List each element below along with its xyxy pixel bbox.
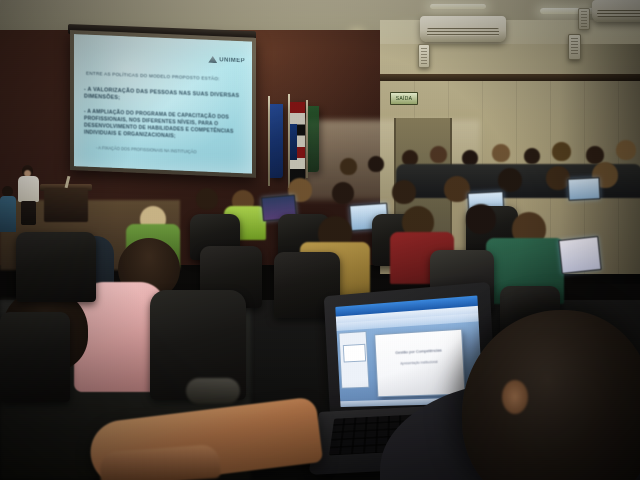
- laptop-slide-title: Gestão por Competências: [384, 347, 454, 356]
- flag-blue: [268, 104, 282, 182]
- audience-head: [552, 142, 571, 161]
- audience-head: [332, 182, 354, 204]
- audience-head: [368, 156, 384, 172]
- slide-logo-wordmark: UNIMEP: [219, 57, 245, 64]
- mountain-triangle-logo-icon: [208, 56, 217, 63]
- audience-head: [492, 144, 510, 162]
- attendee-laptop-document: [558, 236, 601, 274]
- slide-logo: UNIMEP: [208, 56, 245, 65]
- audience-head: [466, 204, 496, 234]
- audience-head: [392, 180, 416, 204]
- attendee-standing-left: [0, 186, 16, 232]
- auditorium-seat: [0, 312, 70, 402]
- projection-screen-surface: UNIMEP ENTRE AS POLÍTICAS DO MODELO PROP…: [74, 34, 252, 173]
- foreground-person-ear: [502, 380, 528, 414]
- exit-sign-label: SAÍDA: [396, 96, 413, 102]
- wall-speaker: [568, 34, 581, 60]
- auditorium-seat: [16, 232, 96, 302]
- flag-sao-paulo: [288, 102, 304, 186]
- photo-scene: SAÍDA UNIMEP ENTRE AS POLÍTICAS DO MODEL…: [0, 0, 640, 480]
- slide-thumbnail[interactable]: [343, 344, 366, 363]
- audience-head: [444, 176, 470, 202]
- projection-screen-frame: UNIMEP ENTRE AS POLÍTICAS DO MODELO PROP…: [70, 30, 256, 178]
- audience-head: [340, 158, 357, 175]
- slide-editor-canvas[interactable]: Gestão por Competências Apresentação ins…: [374, 329, 465, 398]
- air-conditioner-unit: [592, 0, 640, 22]
- attendee-laptop: [567, 177, 600, 201]
- exit-sign: SAÍDA: [390, 92, 418, 105]
- audience-head: [546, 166, 570, 190]
- presenter: [16, 165, 42, 223]
- air-conditioner-unit: [420, 16, 506, 42]
- flag-green: [306, 106, 318, 176]
- audience-head: [196, 188, 218, 210]
- seat-base-pedestal: [186, 378, 240, 404]
- audience-head: [524, 148, 540, 164]
- slide-thumbnail-pane[interactable]: [338, 331, 369, 389]
- laptop-slide-subtitle: Apresentação institucional: [386, 359, 452, 366]
- wall-speaker: [578, 8, 590, 30]
- wall-speaker: [418, 44, 430, 68]
- ceiling-light-fixture: [430, 4, 486, 9]
- lectern: [44, 188, 88, 222]
- audience-head: [616, 140, 636, 160]
- audience-head: [430, 146, 447, 163]
- audience-head: [498, 168, 522, 192]
